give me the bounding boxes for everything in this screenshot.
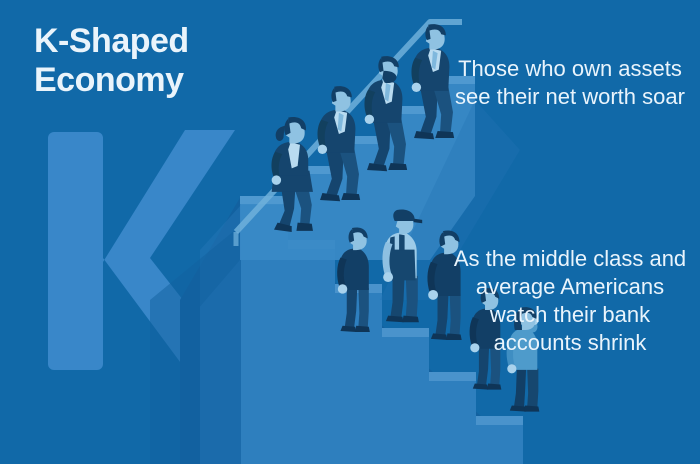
page-title: K-Shaped Economy	[34, 22, 284, 101]
top-caption: Those who own assets see their net worth…	[448, 55, 692, 111]
bottom-caption: As the middle class and average American…	[448, 245, 692, 358]
infographic-canvas: K-Shaped Economy Those who own assets se…	[0, 0, 700, 464]
